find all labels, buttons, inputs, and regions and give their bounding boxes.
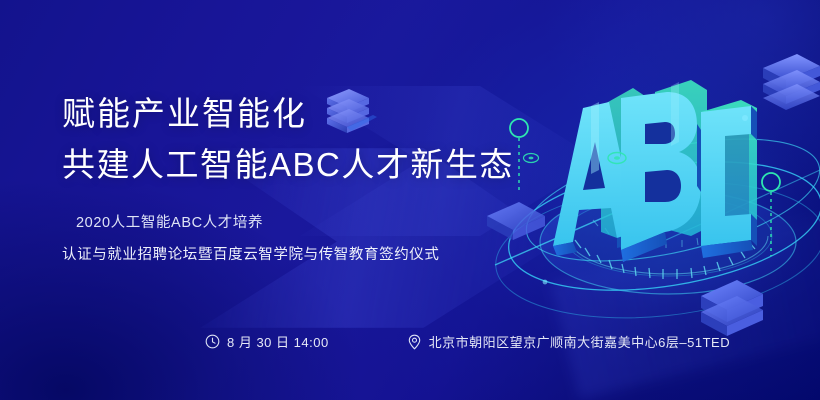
ring-marker-icon: [522, 152, 540, 164]
subtitle-line1: 2020人工智能ABC人才培养: [76, 211, 263, 232]
map-pin-icon: [407, 334, 422, 350]
event-location: 北京市朝阳区望京广顺南大街嘉美中心6层–51TED: [407, 332, 730, 351]
event-time: 8 月 30 日 14:00: [205, 332, 329, 351]
event-meta-footer: 8 月 30 日 14:00 北京市朝阳区望京广顺南大街嘉美中心6层–51TED: [205, 332, 730, 351]
title-line1-row: 赋能产业智能化: [62, 88, 377, 138]
clock-icon: [205, 334, 220, 349]
event-banner: 赋能产业智能化: [0, 0, 820, 400]
page-title-line1: 赋能产业智能化: [62, 97, 307, 130]
event-time-text: 8 月 30 日 14:00: [227, 332, 329, 351]
floating-slab-right-top: [763, 54, 820, 110]
page-title-line2: 共建人工智能ABC人才新生态: [62, 148, 514, 181]
event-location-text: 北京市朝阳区望京广顺南大街嘉美中心6层–51TED: [429, 332, 730, 351]
subtitle-line2: 认证与就业招聘论坛暨百度云智学院与传智教育签约仪式: [62, 243, 440, 264]
stacked-layers-icon: [323, 88, 377, 138]
